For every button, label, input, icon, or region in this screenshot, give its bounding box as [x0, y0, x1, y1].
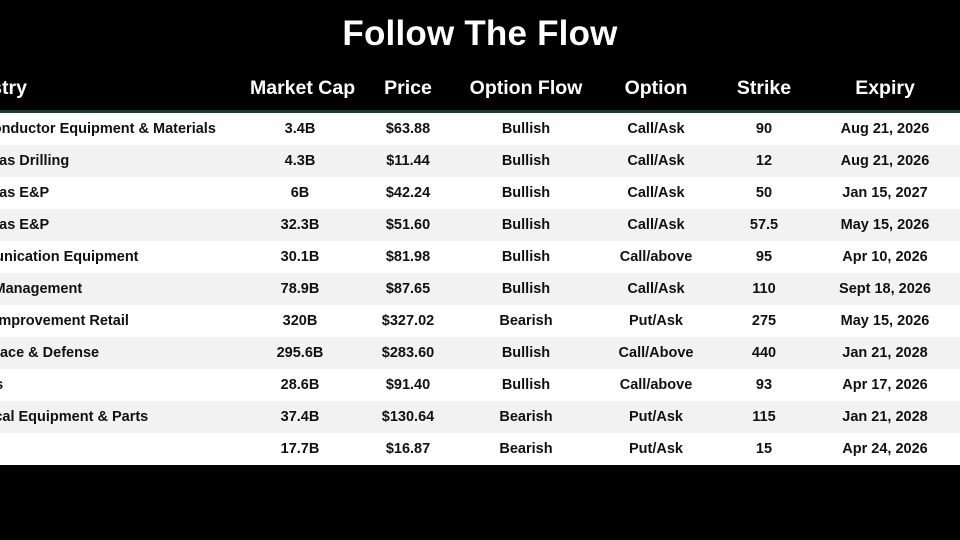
cell-option: Put/Ask [596, 433, 716, 467]
cell-option: Call/Ask [596, 145, 716, 177]
table-body: Semiconductor Equipment & Materials3.4B$… [0, 112, 960, 467]
page-title: Follow The Flow [342, 16, 617, 51]
cell-expiry: Jan 15, 2027 [812, 177, 958, 209]
cell-price: $11.44 [360, 145, 456, 177]
cell-option-flow: Bearish [456, 401, 596, 433]
cell-market-cap: 320B [240, 305, 360, 337]
cell-expiry: Jan 21, 2028 [812, 337, 958, 369]
table-row[interactable]: Oil & Gas E&P6B$42.24BullishCall/Ask50Ja… [0, 177, 960, 209]
cell-option-flow: Bullish [456, 112, 596, 146]
cell-option-flow: Bullish [456, 177, 596, 209]
cell-strike: 275 [716, 305, 812, 337]
cell-strike: 90 [716, 112, 812, 146]
cell-strike: 12 [716, 145, 812, 177]
option-flow-table: Industry Market Cap Price Option Flow Op… [0, 66, 960, 468]
cell-price: $91.40 [360, 369, 456, 401]
column-header-strike[interactable]: Strike [716, 66, 812, 112]
cell-market-cap: 78.9B [240, 273, 360, 305]
cell-industry: Steel [0, 433, 240, 467]
cell-strike: 115 [716, 401, 812, 433]
cell-option-flow: Bullish [456, 369, 596, 401]
cell-option: Call/above [596, 369, 716, 401]
table-sheet: Industry Market Cap Price Option Flow Op… [0, 66, 960, 468]
cell-industry: Oil & Gas E&P [0, 177, 240, 209]
cell-expiry: Aug 21, 2026 [812, 112, 958, 146]
cell-price: $87.65 [360, 273, 456, 305]
cell-price: $42.24 [360, 177, 456, 209]
table-row[interactable]: Semiconductor Equipment & Materials3.4B$… [0, 112, 960, 146]
cell-industry: Oil & Gas Drilling [0, 145, 240, 177]
cell-option-flow: Bearish [456, 433, 596, 467]
cell-price: $130.64 [360, 401, 456, 433]
cell-option-flow: Bullish [456, 273, 596, 305]
cell-strike: 440 [716, 337, 812, 369]
cell-expiry: Apr 10, 2026 [812, 241, 958, 273]
cell-price: $51.60 [360, 209, 456, 241]
cell-market-cap: 4.3B [240, 145, 360, 177]
column-header-market-cap[interactable]: Market Cap [240, 66, 360, 112]
cell-option: Put/Ask [596, 305, 716, 337]
cell-option-flow: Bullish [456, 145, 596, 177]
column-header-option[interactable]: Option [596, 66, 716, 112]
cell-industry: Communication Equipment [0, 241, 240, 273]
cell-strike: 15 [716, 433, 812, 467]
cell-market-cap: 17.7B [240, 433, 360, 467]
cell-market-cap: 6B [240, 177, 360, 209]
table-row[interactable]: Home Improvement Retail320B$327.02Bearis… [0, 305, 960, 337]
cell-industry: Asset Management [0, 273, 240, 305]
column-header-expiry[interactable]: Expiry [812, 66, 958, 112]
cell-industry: Oil & Gas E&P [0, 209, 240, 241]
cell-industry: Airlines [0, 369, 240, 401]
cell-option: Call/Ask [596, 112, 716, 146]
cell-expiry: May 15, 2026 [812, 209, 958, 241]
cell-market-cap: 37.4B [240, 401, 360, 433]
table-header: Industry Market Cap Price Option Flow Op… [0, 66, 960, 112]
cell-price: $327.02 [360, 305, 456, 337]
table-header-row: Industry Market Cap Price Option Flow Op… [0, 66, 960, 112]
table-row[interactable]: Aerospace & Defense295.6B$283.60BullishC… [0, 337, 960, 369]
cell-option: Call/Ask [596, 209, 716, 241]
cell-industry: Electrical Equipment & Parts [0, 401, 240, 433]
cell-price: $63.88 [360, 112, 456, 146]
cell-price: $16.87 [360, 433, 456, 467]
table-row[interactable]: Electrical Equipment & Parts37.4B$130.64… [0, 401, 960, 433]
table-row[interactable]: Communication Equipment30.1B$81.98Bullis… [0, 241, 960, 273]
cell-option: Call/above [596, 241, 716, 273]
cell-market-cap: 295.6B [240, 337, 360, 369]
cell-expiry: Aug 21, 2026 [812, 145, 958, 177]
cell-expiry: Jan 21, 2028 [812, 401, 958, 433]
cell-strike: 93 [716, 369, 812, 401]
cell-industry: Aerospace & Defense [0, 337, 240, 369]
cell-option-flow: Bearish [456, 305, 596, 337]
table-row[interactable]: Steel17.7B$16.87BearishPut/Ask15Apr 24, … [0, 433, 960, 467]
cell-strike: 110 [716, 273, 812, 305]
cell-expiry: May 15, 2026 [812, 305, 958, 337]
cell-option: Put/Ask [596, 401, 716, 433]
cell-price: $81.98 [360, 241, 456, 273]
cell-strike: 50 [716, 177, 812, 209]
page-title-bar: Follow The Flow [0, 0, 960, 66]
table-row[interactable]: Airlines28.6B$91.40BullishCall/above93Ap… [0, 369, 960, 401]
table-row[interactable]: Asset Management78.9B$87.65BullishCall/A… [0, 273, 960, 305]
cell-option: Call/Ask [596, 177, 716, 209]
table-row[interactable]: Oil & Gas Drilling4.3B$11.44BullishCall/… [0, 145, 960, 177]
cell-price: $283.60 [360, 337, 456, 369]
cell-option-flow: Bullish [456, 337, 596, 369]
table-scroll-viewport[interactable]: Industry Market Cap Price Option Flow Op… [0, 66, 960, 468]
cell-strike: 57.5 [716, 209, 812, 241]
cell-expiry: Sept 18, 2026 [812, 273, 958, 305]
cell-expiry: Apr 17, 2026 [812, 369, 958, 401]
cell-industry: Semiconductor Equipment & Materials [0, 112, 240, 146]
table-row[interactable]: Oil & Gas E&P32.3B$51.60BullishCall/Ask5… [0, 209, 960, 241]
cell-strike: 95 [716, 241, 812, 273]
column-header-price[interactable]: Price [360, 66, 456, 112]
cell-option-flow: Bullish [456, 209, 596, 241]
cell-market-cap: 30.1B [240, 241, 360, 273]
cell-industry: Home Improvement Retail [0, 305, 240, 337]
column-header-option-flow[interactable]: Option Flow [456, 66, 596, 112]
screen-root: Follow The Flow Ind [0, 0, 960, 540]
cell-market-cap: 32.3B [240, 209, 360, 241]
column-header-industry[interactable]: Industry [0, 66, 240, 112]
page-bottom-filler [0, 468, 960, 540]
cell-option: Call/Above [596, 337, 716, 369]
cell-market-cap: 28.6B [240, 369, 360, 401]
cell-market-cap: 3.4B [240, 112, 360, 146]
cell-expiry: Apr 24, 2026 [812, 433, 958, 467]
cell-option: Call/Ask [596, 273, 716, 305]
cell-option-flow: Bullish [456, 241, 596, 273]
